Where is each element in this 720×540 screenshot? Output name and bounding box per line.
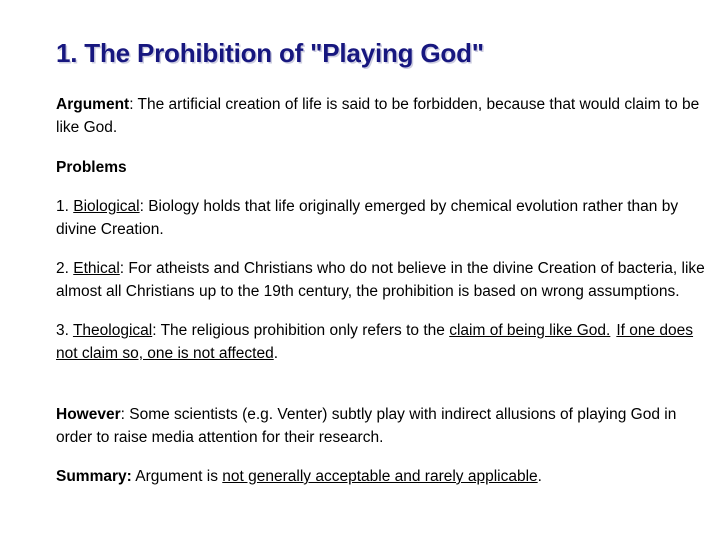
problem-2-text: For atheists and Christians who do not b… — [56, 260, 705, 300]
problem-2-number: 2. — [56, 260, 73, 277]
problem-2-term: Ethical — [73, 260, 120, 277]
problem-3-emphasis-claim-period: . — [606, 322, 610, 339]
however-text: Some scientists (e.g. Venter) subtly pla… — [56, 406, 676, 446]
however-paragraph: However: Some scientists (e.g. Venter) s… — [56, 403, 708, 449]
however-label: However — [56, 406, 121, 423]
problem-1-text: Biology holds that life originally emerg… — [56, 198, 678, 238]
problem-3-number: 3. — [56, 322, 73, 339]
problem-1-separator: : — [140, 198, 149, 215]
problem-item-theological: 3. Theological: The religious prohibitio… — [56, 319, 708, 365]
summary-text-before: Argument is — [132, 468, 222, 485]
summary-emphasis: not generally acceptable and rarely appl… — [222, 468, 537, 485]
problem-3-separator: : — [152, 322, 160, 339]
problem-item-ethical: 2. Ethical: For atheists and Christians … — [56, 257, 708, 303]
problem-1-term: Biological — [73, 198, 139, 215]
problems-heading: Problems — [56, 156, 708, 179]
problem-3-text-after: . — [274, 345, 278, 362]
summary-label: Summary: — [56, 468, 132, 485]
slide: 1. The Prohibition of "Playing God" Argu… — [0, 0, 720, 540]
problem-3-term: Theological — [73, 322, 152, 339]
problem-3-emphasis-claim: claim of being like God — [449, 322, 606, 339]
summary-text-after: . — [538, 468, 542, 485]
slide-body: Argument: The artificial creation of lif… — [56, 93, 708, 488]
however-separator: : — [121, 406, 130, 423]
argument-paragraph: Argument: The artificial creation of lif… — [56, 93, 706, 139]
problem-3-text-before: The religious prohibition only refers to… — [161, 322, 450, 339]
argument-text: The artificial creation of life is said … — [56, 96, 699, 136]
page-title: 1. The Prohibition of "Playing God" — [56, 38, 696, 69]
argument-separator: : — [129, 96, 137, 113]
summary-paragraph: Summary: Argument is not generally accep… — [56, 465, 708, 488]
problem-1-number: 1. — [56, 198, 73, 215]
argument-label: Argument — [56, 96, 129, 113]
problem-item-biological: 1. Biological: Biology holds that life o… — [56, 195, 706, 241]
